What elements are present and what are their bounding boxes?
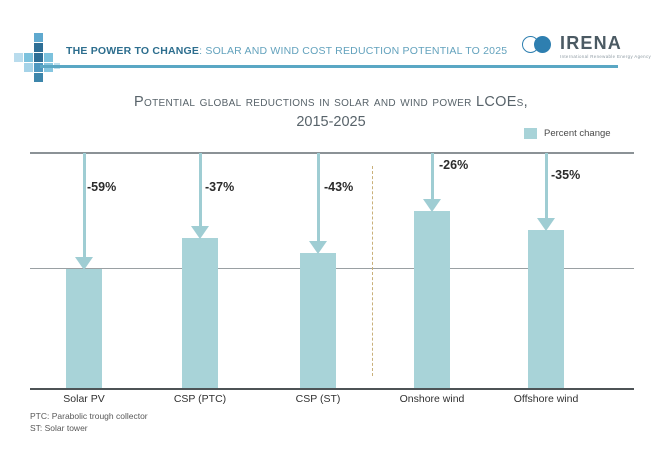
bar-csp-ptc	[182, 238, 218, 388]
arrow-stem-2	[199, 153, 202, 226]
chart-legend: Percent change	[524, 128, 611, 139]
irena-tagline: International Renewable Energy Agency	[560, 54, 651, 59]
arrow-head-4	[423, 199, 441, 212]
banner-rule	[40, 65, 618, 68]
x-label-onshore-wind: Onshore wind	[367, 393, 497, 405]
bar-value-label: -59%	[87, 180, 116, 194]
x-label-solar-pv: Solar PV	[19, 393, 149, 405]
irena-globe-icon	[522, 36, 556, 54]
arrow-stem-3	[317, 153, 320, 241]
legend-swatch-percent-change	[524, 128, 537, 139]
group-divider-dashed	[372, 166, 373, 376]
arrow-stem-4	[431, 153, 434, 199]
arrow-head-2	[191, 226, 209, 239]
footnote-st: ST: Solar tower	[30, 423, 148, 435]
bar-value-label: -35%	[551, 168, 580, 182]
bar-solar-pv	[66, 269, 102, 388]
bar-value-label: -43%	[324, 180, 353, 194]
bar-onshore-wind	[414, 211, 450, 388]
arrow-stem-5	[545, 153, 548, 218]
arrow-head-3	[309, 241, 327, 254]
gridline-top	[30, 152, 634, 154]
bar-value-label: -26%	[439, 158, 468, 172]
chart-title-line1: Potential global reductions in solar and…	[0, 92, 662, 112]
footnote-ptc: PTC: Parabolic trough collector	[30, 411, 148, 423]
arrow-head-1	[75, 257, 93, 270]
axis-baseline	[30, 388, 634, 390]
chart-footnotes: PTC: Parabolic trough collector ST: Sola…	[30, 411, 148, 434]
irena-pixel-cross-icon	[16, 33, 64, 85]
legend-label-percent-change: Percent change	[544, 128, 611, 139]
bar-csp-st	[300, 253, 336, 388]
x-axis-labels: Solar PVCSP (PTC)CSP (ST)Onshore windOff…	[30, 393, 634, 409]
x-label-offshore-wind: Offshore wind	[481, 393, 611, 405]
banner-title-strong: THE POWER TO CHANGE	[66, 45, 199, 57]
page-header: THE POWER TO CHANGE: SOLAR AND WIND COST…	[0, 0, 662, 88]
chart-title: Potential global reductions in solar and…	[0, 92, 662, 132]
bar-offshore-wind	[528, 230, 564, 388]
arrow-head-5	[537, 218, 555, 231]
arrow-stem-1	[83, 153, 86, 257]
banner-title-light: : SOLAR AND WIND COST REDUCTION POTENTIA…	[199, 45, 507, 57]
bar-value-label: -37%	[205, 180, 234, 194]
x-label-csp-ptc: CSP (PTC)	[135, 393, 265, 405]
banner-title: THE POWER TO CHANGE: SOLAR AND WIND COST…	[66, 45, 507, 57]
irena-wordmark: IRENA	[560, 33, 622, 54]
x-label-csp-st: CSP (ST)	[253, 393, 383, 405]
chart-plot-area: -59%-37%-43%-26%-35%	[30, 140, 634, 390]
